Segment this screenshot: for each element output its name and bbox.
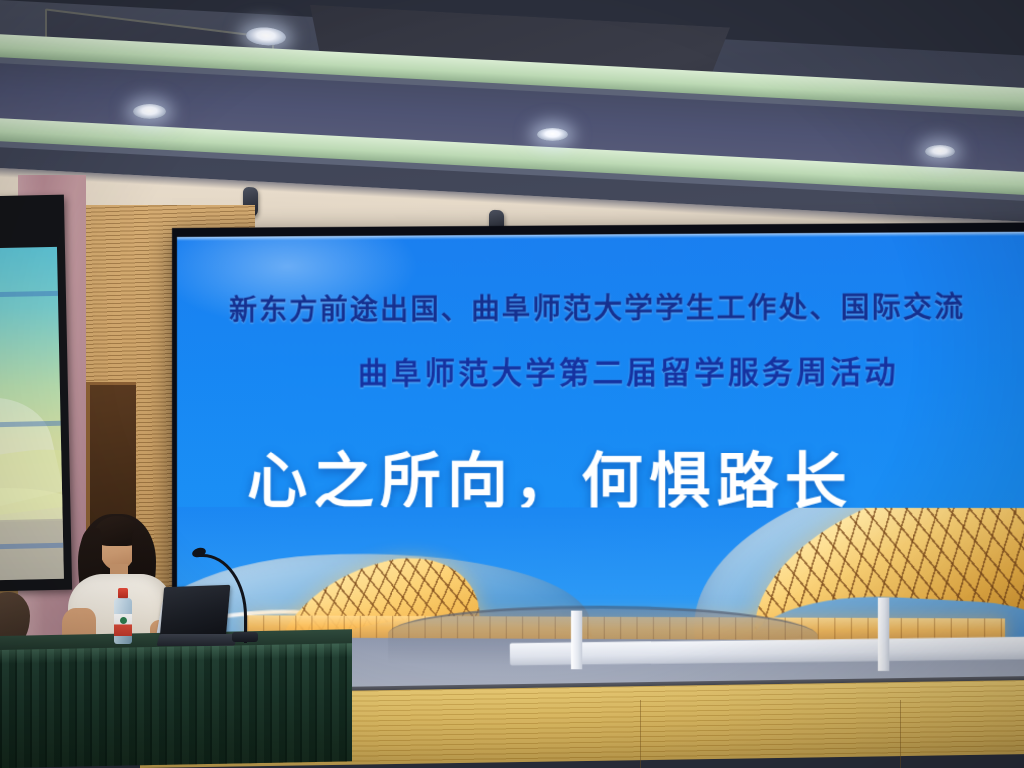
downlight-2-icon [133,104,166,119]
downlight-3-icon [537,128,568,141]
stage-seam-2 [900,700,901,768]
artwork-pillar-1 [571,611,582,670]
microphone-base [232,632,258,642]
water-bottle [114,588,132,644]
conference-hall-photo: 新东方前途出国、曲阜师范大学学生工作处、国际交流 曲阜师范大学第二届留学服务周活… [0,0,1024,768]
side-screen-shape-4 [0,519,64,582]
slide-organizers-line: 新东方前途出国、曲阜师范大学学生工作处、国际交流 [229,284,1024,328]
led-display-surface: 新东方前途出国、曲阜师范大学学生工作处、国际交流 曲阜师范大学第二届留学服务周活… [177,232,1024,695]
downlight-4-icon [925,145,955,158]
artwork-pillar-2 [878,598,889,671]
slide-event-line: 曲阜师范大学第二届留学服务周活动 [358,346,1024,393]
stage-seam-1 [640,700,641,768]
microphone-gooseneck [198,554,247,643]
gooseneck-microphone [196,548,248,644]
side-screen-surface [0,247,64,581]
bottle-logo-icon [120,617,127,624]
